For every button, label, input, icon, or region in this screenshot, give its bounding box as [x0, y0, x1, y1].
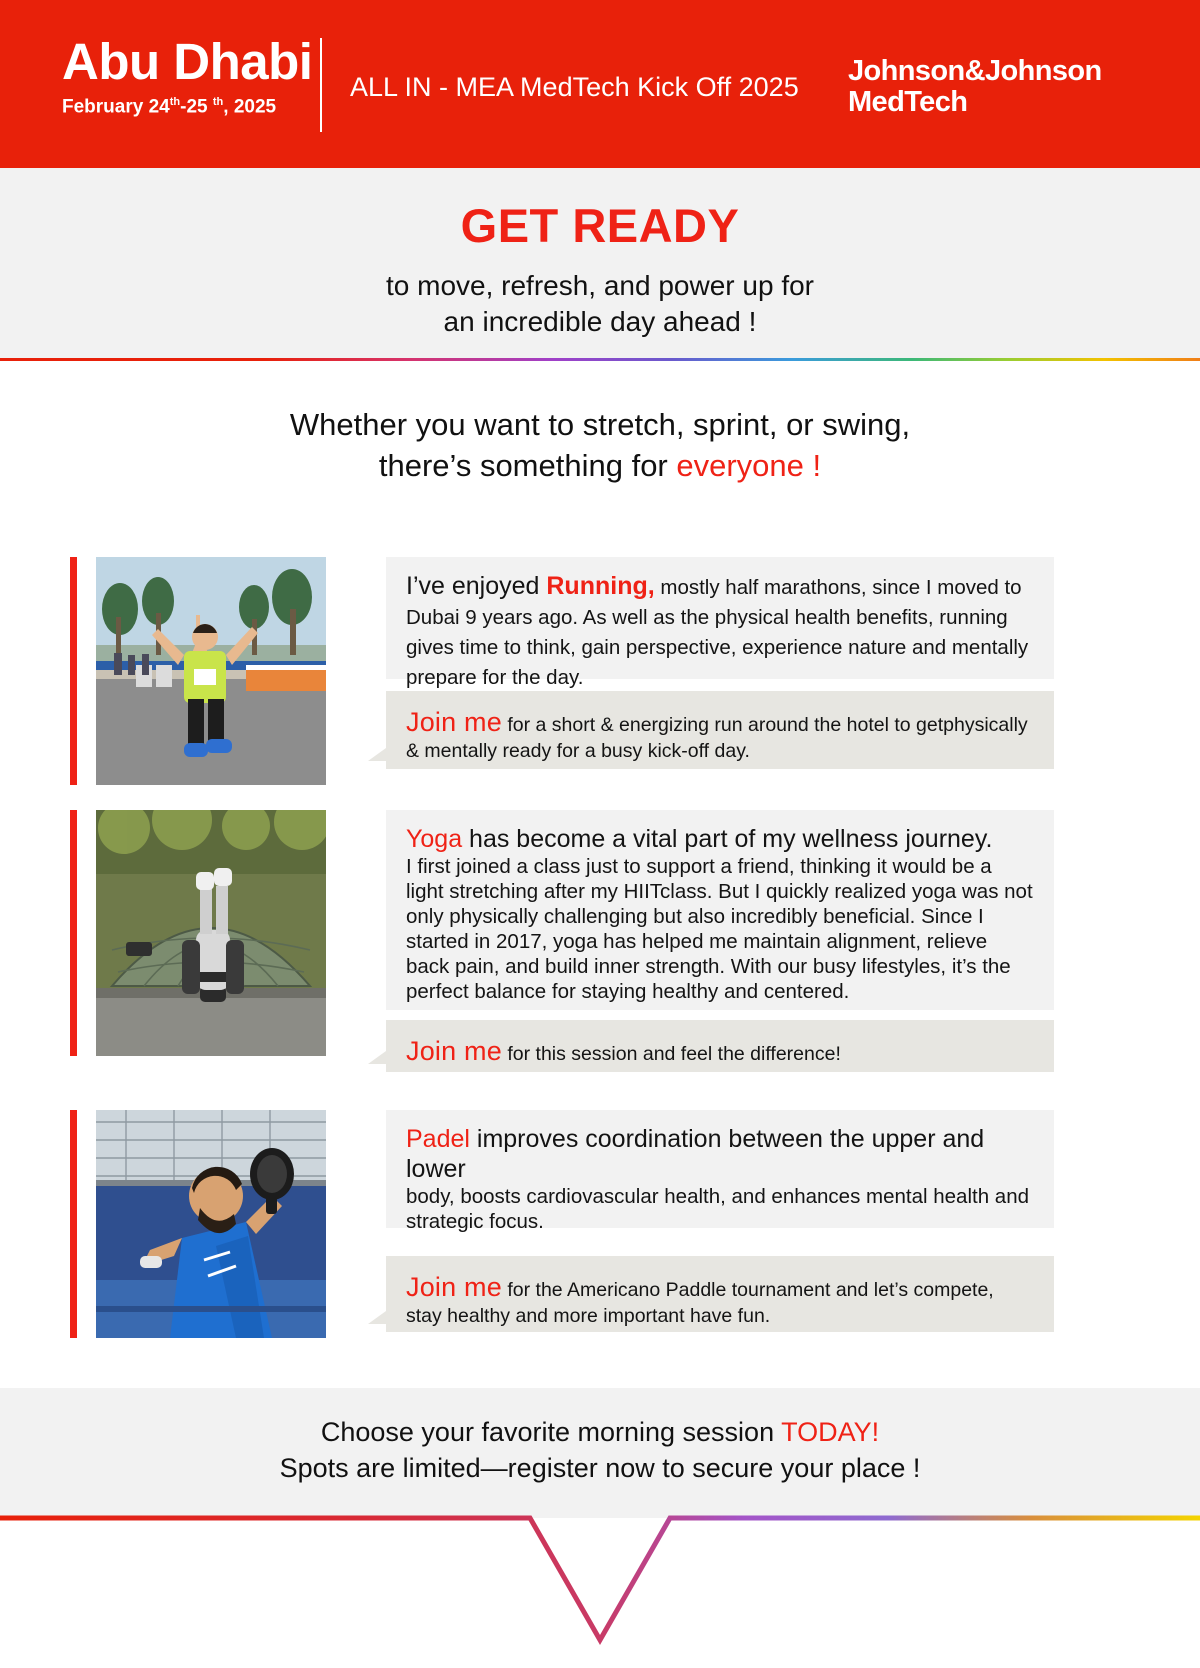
footer-line-1: Choose your favorite morning session TOD…: [0, 1414, 1200, 1450]
brand-line-1: Johnson&Johnson: [848, 56, 1102, 87]
yoga-join-label: Join me: [406, 1036, 502, 1066]
running-join-bubble[interactable]: Join me for a short & energizing run aro…: [386, 691, 1054, 769]
footer-chevron-divider: [0, 1512, 1200, 1668]
hero-subtitle-line-2: an incredible day ahead !: [0, 304, 1200, 340]
running-join-line: Join me for a short & energizing run aro…: [406, 705, 1034, 764]
intro-line-2: there’s something for everyone !: [0, 446, 1200, 487]
running-keyword: Running,: [546, 572, 654, 600]
padel-lead-suffix: improves coordination between the upper …: [406, 1125, 984, 1183]
running-join-label: Join me: [406, 707, 502, 737]
yoga-story-bubble: Yoga has become a vital part of my welln…: [386, 810, 1054, 1010]
yoga-lead-suffix: has become a vital part of my wellness j…: [462, 825, 992, 853]
intro-line-2-prefix: there’s something for: [379, 448, 677, 483]
date-ordinal-2: th: [213, 96, 223, 108]
padel-story-text: body, boosts cardiovascular health, and …: [406, 1184, 1034, 1234]
yoga-accent-bar: [70, 810, 77, 1056]
yoga-join-bubble[interactable]: Join me for this session and feel the di…: [386, 1020, 1054, 1072]
yoga-story-text: I first joined a class just to support a…: [406, 854, 1034, 1004]
intro-text: Whether you want to stretch, sprint, or …: [0, 361, 1200, 487]
page-title: GET READY: [0, 200, 1200, 252]
yoga-join-line: Join me for this session and feel the di…: [406, 1034, 1034, 1068]
header-event-title: ALL IN - MEA MedTech Kick Off 2025: [350, 72, 799, 103]
date-prefix: February 24: [62, 96, 170, 117]
yoga-headstand-photo: [96, 810, 326, 1056]
header-event-dates: February 24th-25 th, 2025: [62, 97, 322, 116]
brand-line-2: MedTech: [848, 87, 1102, 118]
padel-story-bubble: Padel improves coordination between the …: [386, 1110, 1054, 1228]
intro-highlight: everyone !: [676, 448, 821, 483]
header-city-block: Abu Dhabi February 24th-25 th, 2025: [62, 36, 322, 116]
running-story-lead: I’ve enjoyed Running, mostly half marath…: [406, 571, 1034, 691]
hero-subtitle-line-1: to move, refresh, and power up for: [0, 268, 1200, 304]
padel-accent-bar: [70, 1110, 77, 1338]
date-ordinal-1: th: [170, 96, 180, 108]
yoga-join-text: for this session and feel the difference…: [502, 1043, 841, 1065]
running-lead-prefix: I’ve enjoyed: [406, 572, 546, 600]
hero-subtitle: to move, refresh, and power up for an in…: [0, 268, 1200, 340]
padel-story-lead: Padel improves coordination between the …: [406, 1124, 1034, 1184]
event-header: Abu Dhabi February 24th-25 th, 2025 ALL …: [0, 0, 1200, 168]
footer-cta-band: Choose your favorite morning session TOD…: [0, 1388, 1200, 1518]
footer-line-1-prefix: Choose your favorite morning session: [321, 1417, 781, 1447]
header-divider: [320, 38, 322, 132]
footer-today-highlight: TODAY!: [781, 1417, 879, 1447]
activity-row-padel: Padel improves coordination between the …: [0, 1101, 1200, 1347]
footer-line-2: Spots are limited—register now to secure…: [0, 1450, 1200, 1486]
running-story-bubble: I’ve enjoyed Running, mostly half marath…: [386, 557, 1054, 679]
padel-keyword: Padel: [406, 1125, 470, 1153]
running-accent-bar: [70, 557, 77, 785]
padel-player-photo: [96, 1110, 326, 1338]
yoga-photo-art: [96, 810, 326, 1056]
padel-join-label: Join me: [406, 1272, 502, 1302]
yoga-keyword: Yoga: [406, 825, 462, 853]
activity-list: I’ve enjoyed Running, mostly half marath…: [0, 548, 1200, 1347]
padel-photo-art: [96, 1110, 326, 1338]
date-suffix: , 2025: [223, 96, 276, 117]
yoga-story-lead: Yoga has become a vital part of my welln…: [406, 824, 1034, 854]
intro-line-1: Whether you want to stretch, sprint, or …: [0, 405, 1200, 446]
header-city-name: Abu Dhabi: [62, 36, 322, 87]
johnson-johnson-medtech-logo: Johnson&Johnson MedTech: [848, 56, 1102, 119]
activity-row-yoga: Yoga has become a vital part of my welln…: [0, 801, 1200, 1101]
activity-row-running: I’ve enjoyed Running, mostly half marath…: [0, 548, 1200, 801]
runner-photo: [96, 557, 326, 785]
get-ready-band: GET READY to move, refresh, and power up…: [0, 168, 1200, 358]
date-mid: -25: [180, 96, 213, 117]
padel-join-line: Join me for the Americano Paddle tournam…: [406, 1270, 1034, 1329]
runner-photo-art: [96, 557, 326, 785]
padel-join-bubble[interactable]: Join me for the Americano Paddle tournam…: [386, 1256, 1054, 1332]
footer: Choose your favorite morning session TOD…: [0, 1388, 1200, 1668]
